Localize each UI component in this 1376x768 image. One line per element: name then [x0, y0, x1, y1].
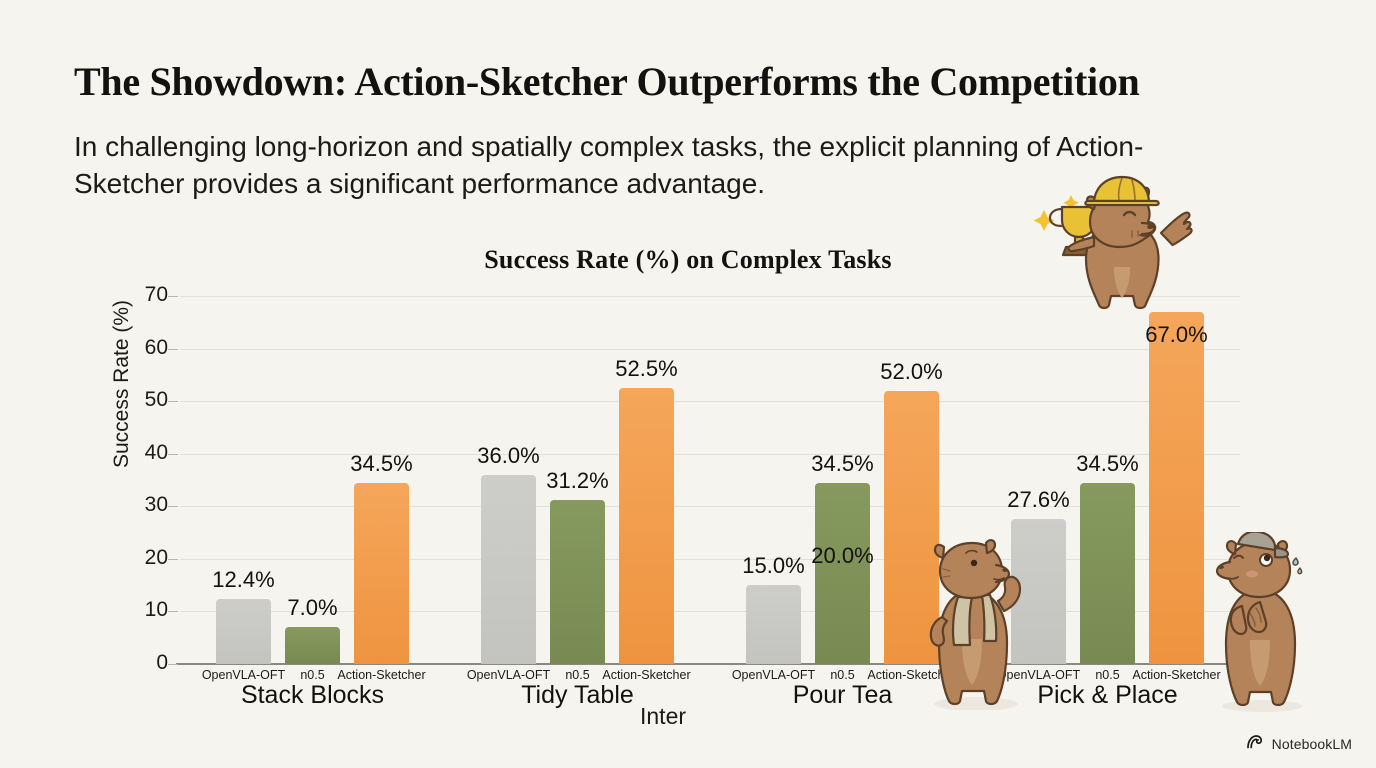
bar-action-sketcher-tidy-table[interactable]: [619, 388, 674, 664]
y-tick-mark: [168, 349, 178, 350]
gridline: [180, 401, 1240, 402]
y-tick-label: 10: [108, 598, 168, 622]
bar-value-label: 52.5%: [589, 356, 704, 382]
y-tick-label: 50: [108, 388, 168, 412]
y-tick-mark: [168, 296, 178, 297]
bar-action-sketcher-stack-blocks[interactable]: [354, 483, 409, 664]
capybara-trophy-winner: [1028, 175, 1213, 325]
series-tick-label: Action-Sketcher: [326, 668, 437, 682]
bar-value-label: 34.5%: [1050, 451, 1165, 477]
y-tick-mark: [168, 611, 178, 612]
y-tick-mark: [168, 506, 178, 507]
bar-n0-5-stack-blocks[interactable]: [285, 627, 340, 664]
bar-value-label: 34.5%: [324, 451, 439, 477]
bar-value-label: 31.2%: [520, 468, 635, 494]
notebooklm-logo-icon: [1247, 735, 1265, 752]
bar-value-label: 36.0%: [451, 443, 566, 469]
bar-value-label: 7.0%: [255, 595, 370, 621]
notebooklm-watermark: NotebookLM: [1247, 735, 1352, 752]
bar-value-label: 52.0%: [854, 359, 969, 385]
bar-action-sketcher-pick-place[interactable]: [1149, 312, 1204, 664]
infographic-slide: The Showdown: Action-Sketcher Outperform…: [0, 0, 1376, 768]
y-tick-mark: [168, 664, 178, 665]
bar-value-label: 12.4%: [186, 567, 301, 593]
y-tick-label: 0: [108, 651, 168, 675]
y-tick-mark: [168, 454, 178, 455]
series-tick-label: Action-Sketcher: [591, 668, 702, 682]
gridline: [180, 349, 1240, 350]
bar-value-label: 67.0%: [1119, 322, 1234, 348]
capybara-thinking: [920, 535, 1030, 710]
watermark-label: NotebookLM: [1272, 736, 1352, 752]
bar-openvla-oft-pour-tea[interactable]: [746, 585, 801, 664]
bar-n0-5-tidy-table[interactable]: [550, 500, 605, 664]
y-tick-label: 20: [108, 546, 168, 570]
bar-n0-5-pick-place[interactable]: [1080, 483, 1135, 664]
capybara-nervous: [1208, 532, 1316, 712]
y-tick-mark: [168, 401, 178, 402]
y-tick-label: 30: [108, 493, 168, 517]
y-tick-label: 40: [108, 441, 168, 465]
bar-value-label: 27.6%: [981, 487, 1096, 513]
bar-value-label: 34.5%: [785, 451, 900, 477]
y-tick-label: 70: [108, 283, 168, 307]
y-tick-label: 60: [108, 336, 168, 360]
bar-annotation-label: 20.0%: [785, 543, 900, 569]
bar-n0-5-pour-tea[interactable]: [815, 483, 870, 664]
y-tick-mark: [168, 559, 178, 560]
page-title: The Showdown: Action-Sketcher Outperform…: [74, 58, 1324, 105]
bar-openvla-oft-tidy-table[interactable]: [481, 475, 536, 664]
